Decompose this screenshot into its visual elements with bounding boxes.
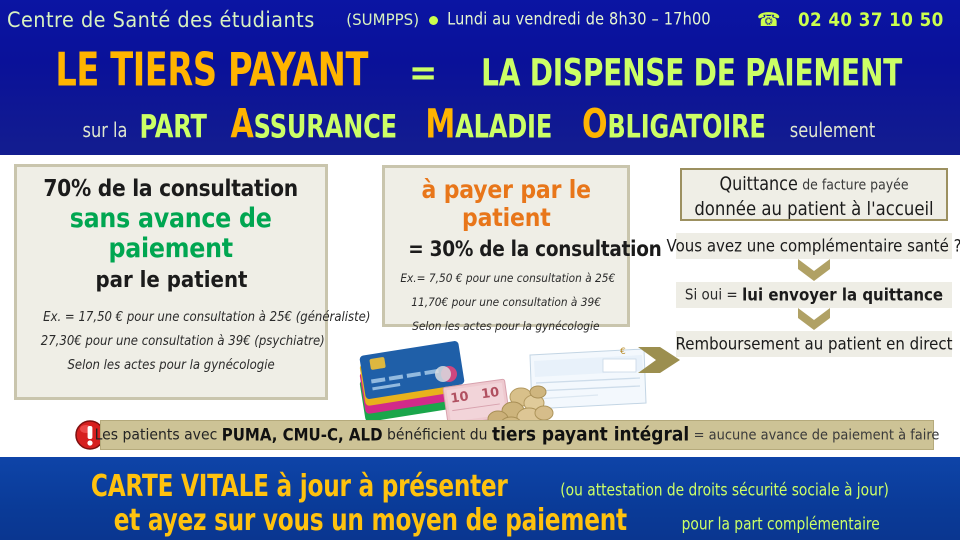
warning-part1: Les patients avec bbox=[95, 426, 218, 444]
title-word-obligatoire: OBLIGATOIRE bbox=[582, 105, 766, 145]
dot-icon bbox=[429, 16, 438, 25]
quittance-line1: Quittance de facture payée bbox=[682, 174, 946, 194]
warning-part5: = aucune avance de paiement à faire bbox=[694, 427, 940, 444]
left-box-line1: 70% de la consultation bbox=[44, 176, 299, 202]
title-prefix-surla: sur la bbox=[82, 121, 127, 142]
left-box-example3: Selon les actes pour la gynécologie bbox=[67, 357, 274, 376]
footer-line2: et ayez sur vous un moyen de paiement po… bbox=[0, 507, 960, 534]
middle-info-box: à payer par le patient = 30% de la consu… bbox=[382, 165, 630, 327]
bottom-blue-banner: CARTE VITALE à jour à présenter (ou atte… bbox=[0, 457, 960, 540]
footer-moyen-paiement: et ayez sur vous un moyen de paiement bbox=[114, 505, 627, 535]
footer-attestation-note: (ou attestation de droits sécurité socia… bbox=[560, 482, 889, 499]
mid-box-example1: Ex.= 7,50 € pour une consultation à 25€ bbox=[400, 270, 615, 287]
quittance-word: Quittance bbox=[719, 173, 797, 195]
title-equals-sign: = bbox=[409, 55, 438, 91]
mid-box-example2: 11,70€ pour une consultation à 39€ bbox=[411, 294, 601, 311]
footer-line1: CARTE VITALE à jour à présenter (ou atte… bbox=[0, 473, 960, 500]
main-content-area: 70% de la consultation sans avance de pa… bbox=[0, 155, 960, 455]
svg-text:10: 10 bbox=[480, 385, 500, 402]
infographic-page: Centre de Santé des étudiants (SUMPPS) L… bbox=[0, 0, 960, 540]
opening-hours: Lundi au vendredi de 8h30 – 17h00 bbox=[447, 11, 711, 30]
step-complementaire-sante: Vous avez une complémentaire santé ? bbox=[676, 233, 952, 259]
step-remboursement: Remboursement au patient en direct bbox=[676, 331, 952, 357]
step-si-oui: Si oui = lui envoyer la quittance bbox=[676, 282, 952, 308]
step1-label: Vous avez une complémentaire santé ? bbox=[666, 236, 960, 256]
title-dispense-paiement: LA DISPENSE DE PAIEMENT bbox=[481, 54, 902, 92]
phone-number: 02 40 37 10 50 bbox=[797, 9, 943, 31]
mid-box-example3: Selon les actes pour la gynécologie bbox=[412, 318, 599, 335]
warning-part3: bénéficient du bbox=[387, 426, 488, 444]
warning-text-bar: Les patients avec PUMA, CMU-C, ALD bénéf… bbox=[100, 420, 934, 450]
quittance-line2: donnée au patient à l'accueil bbox=[694, 198, 933, 220]
chevron-down-arrow-icon bbox=[676, 259, 952, 281]
step2-prefix: Si oui = bbox=[685, 286, 738, 304]
warning-tiers-payant-integral: tiers payant intégral bbox=[492, 424, 689, 446]
quittance-subtext: de facture payée bbox=[802, 176, 908, 193]
left-box-examples: Ex. = 17,50 € pour une consultation à 25… bbox=[25, 305, 317, 377]
warning-schemes: PUMA, CMU-C, ALD bbox=[222, 425, 383, 445]
telephone-icon: ☎ bbox=[757, 11, 781, 30]
warning-strip: Les patients avec PUMA, CMU-C, ALD bénéf… bbox=[0, 415, 960, 457]
step2-label: lui envoyer la quittance bbox=[742, 285, 943, 305]
left-box-example2: 27,30€ pour une consultation à 39€ (psyc… bbox=[41, 333, 325, 352]
left-box-line2: sans avance de bbox=[70, 204, 272, 234]
title-word-part: PART bbox=[140, 111, 207, 143]
contact-row: Centre de Santé des étudiants (SUMPPS) L… bbox=[0, 4, 960, 36]
title-word-assurance: ASSURANCE bbox=[231, 105, 397, 145]
left-box-example1: Ex. = 17,50 € pour une consultation à 25… bbox=[43, 309, 370, 328]
footer-part-complementaire: pour la part complémentaire bbox=[681, 516, 879, 533]
main-title-line2: sur la PART ASSURANCE MALADIE OBLIGATOIR… bbox=[0, 108, 960, 143]
left-info-box: 70% de la consultation sans avance de pa… bbox=[14, 164, 328, 400]
step3-label: Remboursement au patient en direct bbox=[676, 334, 953, 354]
left-box-line3: paiement bbox=[109, 234, 233, 264]
mid-box-line3: = 30% de la consultation bbox=[408, 237, 661, 261]
center-name: Centre de Santé des étudiants bbox=[7, 8, 315, 32]
title-suffix-seulement: seulement bbox=[790, 121, 876, 142]
svg-text:€: € bbox=[620, 347, 626, 357]
quittance-box: Quittance de facture payée donnée au pat… bbox=[680, 168, 948, 221]
center-acronym: (SUMPPS) bbox=[346, 11, 419, 30]
left-box-line4: par le patient bbox=[95, 268, 247, 293]
title-tiers-payant: LE TIERS PAYANT bbox=[55, 48, 368, 94]
svg-text:10: 10 bbox=[450, 389, 470, 406]
title-word-maladie: MALADIE bbox=[425, 105, 552, 145]
main-title-line1: LE TIERS PAYANT = LA DISPENSE DE PAIEMEN… bbox=[0, 50, 960, 91]
mid-box-line1: à payer par le bbox=[421, 176, 590, 204]
phone-block: ☎ 02 40 37 10 50 bbox=[757, 9, 953, 31]
chevron-down-arrow-icon bbox=[676, 308, 952, 330]
mid-box-line2: patient bbox=[462, 204, 551, 232]
mid-box-examples: Ex.= 7,50 € pour une consultation à 25€ … bbox=[391, 266, 621, 338]
top-blue-banner: Centre de Santé des étudiants (SUMPPS) L… bbox=[0, 0, 960, 155]
footer-carte-vitale: CARTE VITALE à jour à présenter bbox=[91, 471, 508, 501]
